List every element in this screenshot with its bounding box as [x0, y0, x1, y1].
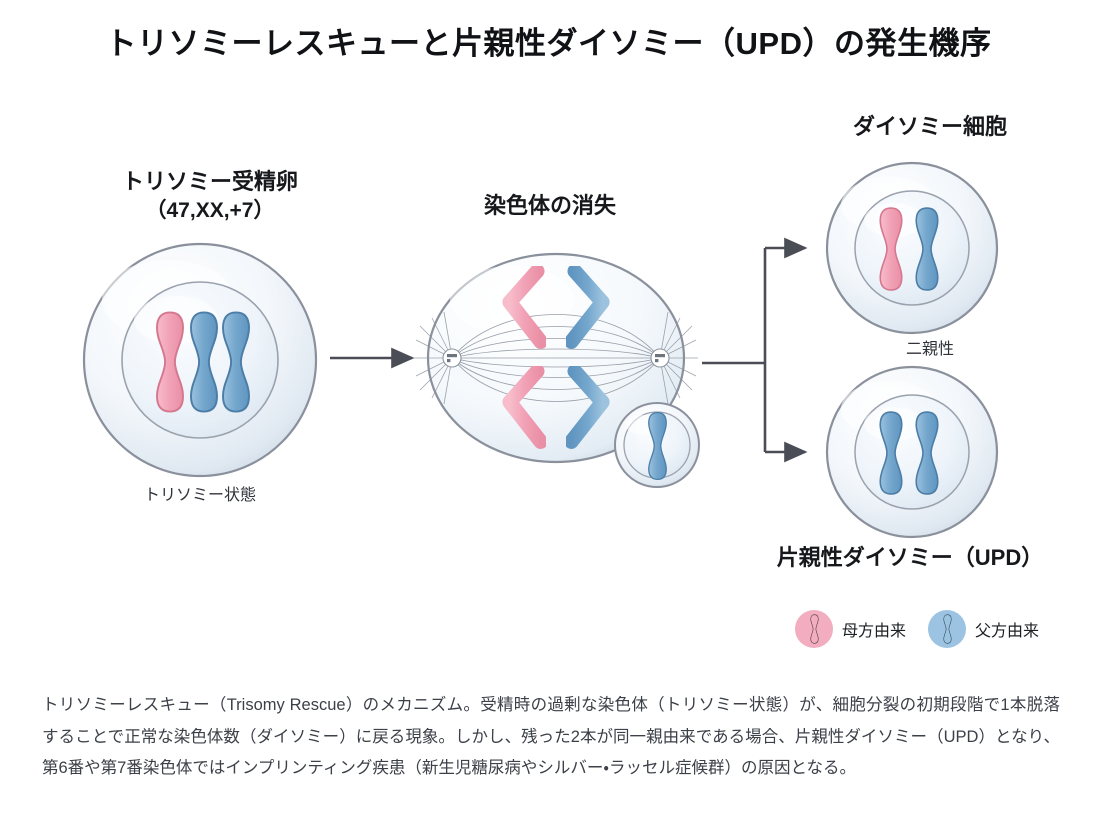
- legend-label-maternal: 母方由来: [842, 617, 906, 641]
- page-title: トリソミーレスキューと片親性ダイソミー（UPD）の発生機序: [0, 18, 1097, 63]
- expelled-chromosome-vesicle: [615, 403, 699, 487]
- centrosome-right: [651, 349, 669, 367]
- cell-trisomy-zygote: [84, 244, 316, 476]
- label-trisomy-zygote-text: トリソミー受精卵: [122, 169, 298, 194]
- legend-label-paternal: 父方由来: [975, 617, 1039, 641]
- figure-caption: トリソミーレスキュー（Trisomy Rescue）のメカニズム。受精時の過剰な…: [42, 690, 1060, 785]
- legend-swatch-maternal: [795, 610, 833, 648]
- cell-disomy-biparental: [827, 163, 997, 333]
- branch-connector: [702, 248, 805, 452]
- cell-upd: [827, 367, 997, 537]
- label-chromosome-loss: 染色体の消失: [420, 192, 680, 221]
- label-trisomy-karyotype: （47,XX,+7）: [60, 197, 360, 224]
- legend: 母方由来 父方由来: [795, 610, 1039, 648]
- label-disomy-cell: ダイソミー細胞: [790, 113, 1070, 142]
- label-upd-cell: 片親性ダイソミー（UPD）: [730, 544, 1090, 573]
- legend-swatch-paternal: [928, 610, 966, 648]
- sub-label-trisomy-state: トリソミー状態: [95, 481, 305, 505]
- centrosome-left: [443, 349, 461, 367]
- sub-label-biparental: 二親性: [855, 335, 1005, 359]
- diagram-canvas: トリソミー受精卵 （47,XX,+7） 染色体の消失 ダイソミー細胞 片親性ダイ…: [0, 78, 1097, 678]
- legend-item-maternal: 母方由来: [795, 610, 906, 648]
- legend-item-paternal: 父方由来: [928, 610, 1039, 648]
- label-trisomy-zygote: トリソミー受精卵 （47,XX,+7）: [60, 168, 360, 224]
- chromosome-icon: [807, 614, 822, 644]
- chromosome-icon: [940, 614, 955, 644]
